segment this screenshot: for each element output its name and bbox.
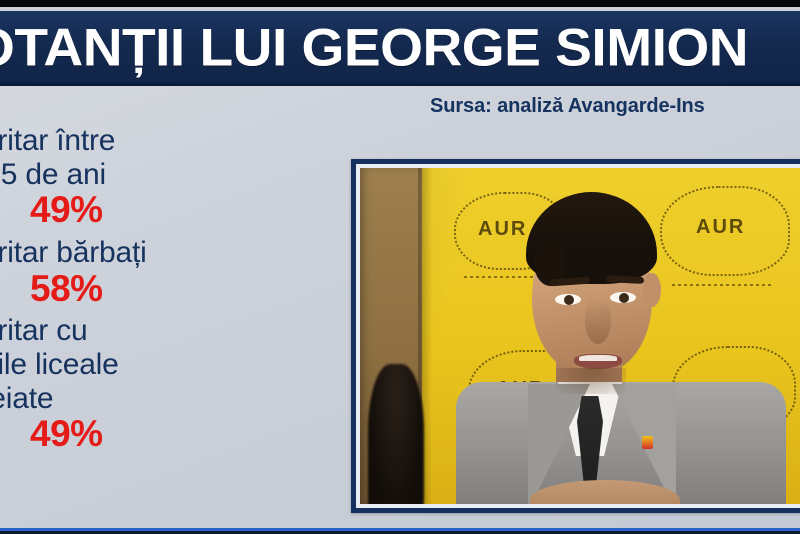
photo-frame: AUR AUR AUR [351, 159, 800, 513]
eye-right [610, 292, 636, 303]
stat-label-line3: cheiate [0, 382, 308, 416]
chin-shadow [556, 368, 626, 394]
mouth [574, 354, 622, 369]
stat-label-line1: ajoritar cu [0, 314, 308, 348]
top-letterbox-strip [0, 0, 800, 7]
subject-photo: AUR AUR AUR [360, 168, 800, 504]
eye-left [555, 294, 581, 305]
stat-label-line1: ajoritar între [0, 124, 308, 158]
source-attribution: Sursa: analiză Avangarde-Ins [430, 95, 705, 118]
photo-frame-inner-mat: AUR AUR AUR [356, 164, 800, 508]
stat-label-line2: udiile liceale [0, 348, 308, 382]
stat-item-education: ajoritar cu udiile liceale cheiate 49% [0, 314, 308, 454]
stat-label-line1: ajoritar bărbați [0, 236, 308, 270]
nose [585, 298, 611, 344]
hair [526, 192, 657, 284]
stat-value-education: 49% [0, 415, 308, 454]
infographic-root: OTANȚII LUI GEORGE SIMION Sursa: analiză… [0, 0, 800, 534]
stat-value-age: 49% [0, 191, 308, 230]
page-title: OTANȚII LUI GEORGE SIMION [0, 21, 748, 74]
title-band: OTANȚII LUI GEORGE SIMION [0, 11, 800, 86]
flag-lapel-pin [642, 436, 653, 449]
subject-portrait [360, 168, 800, 504]
ear [643, 273, 661, 307]
stat-value-gender: 58% [0, 270, 308, 309]
statistics-list: ajoritar între 8-35 de ani 49% ajoritar … [0, 124, 308, 456]
stat-item-gender: ajoritar bărbați 58% [0, 236, 308, 308]
stat-item-age: ajoritar între 8-35 de ani 49% [0, 124, 308, 230]
stat-label-line2: 8-35 de ani [0, 158, 308, 192]
